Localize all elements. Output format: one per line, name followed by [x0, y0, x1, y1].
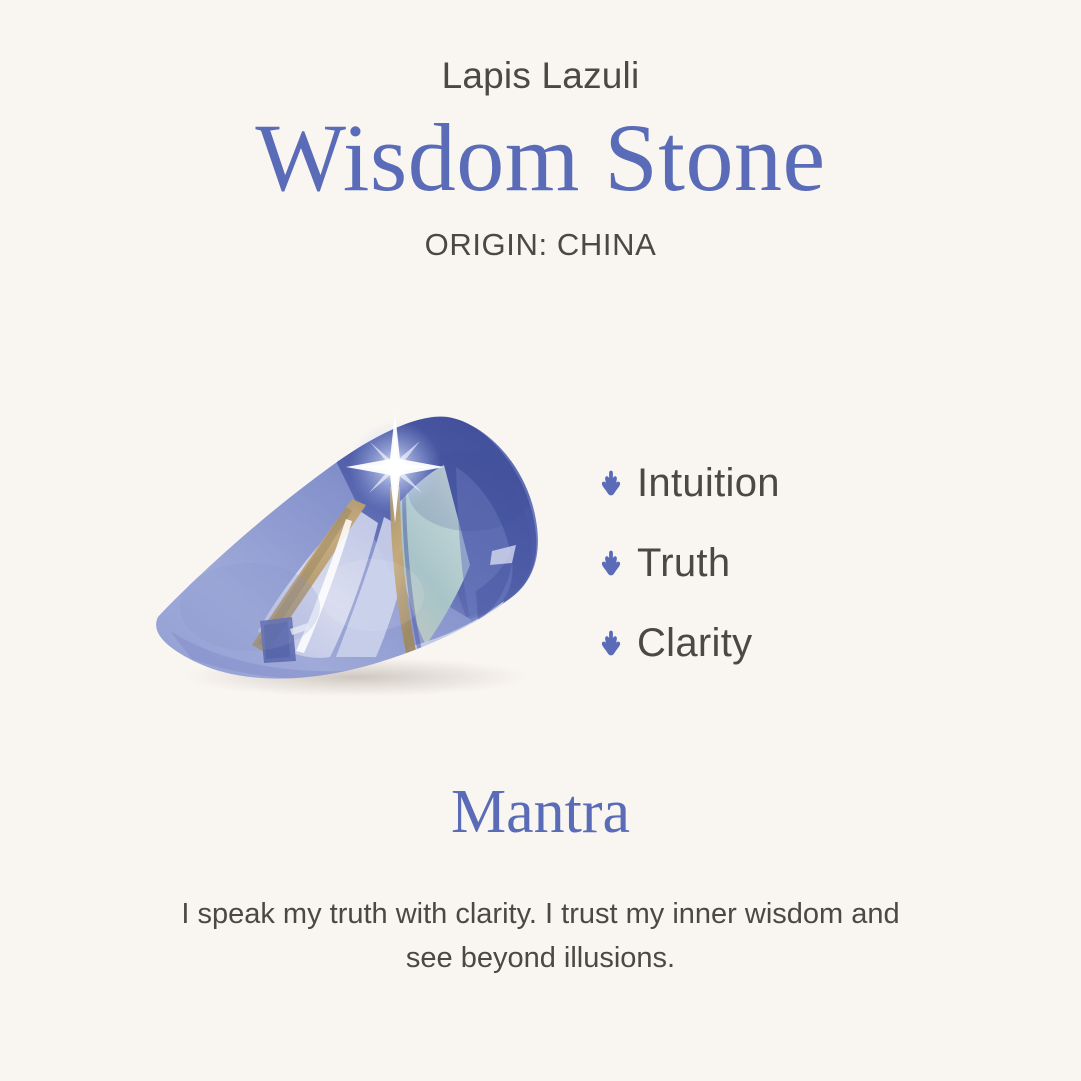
list-item: Intuition [600, 443, 1020, 523]
lapis-lazuli-gemstone-icon [140, 395, 560, 725]
hamsa-hand-icon [600, 628, 622, 658]
list-item: Truth [600, 523, 1020, 603]
gemstone-illustration [140, 395, 560, 725]
hamsa-hand-icon [600, 468, 622, 498]
mantra-text: I speak my truth with clarity. I trust m… [161, 892, 921, 980]
property-label: Clarity [637, 623, 752, 663]
list-item: Clarity [600, 603, 1020, 683]
card-header: Lapis Lazuli Wisdom Stone ORIGIN: CHINA [0, 54, 1081, 263]
page-title: Wisdom Stone [0, 106, 1081, 210]
property-label: Intuition [637, 463, 780, 503]
mantra-section: Mantra I speak my truth with clarity. I … [0, 778, 1081, 980]
property-label: Truth [637, 543, 730, 583]
stone-name: Lapis Lazuli [0, 54, 1081, 98]
mantra-heading: Mantra [0, 778, 1081, 846]
stone-detail-section: Intuition Truth Clarity [0, 395, 1081, 725]
properties-list: Intuition Truth Clarity [600, 443, 1020, 683]
stone-origin: ORIGIN: CHINA [0, 227, 1081, 263]
stone-card: Lapis Lazuli Wisdom Stone ORIGIN: CHINA [0, 0, 1081, 1081]
hamsa-hand-icon [600, 548, 622, 578]
